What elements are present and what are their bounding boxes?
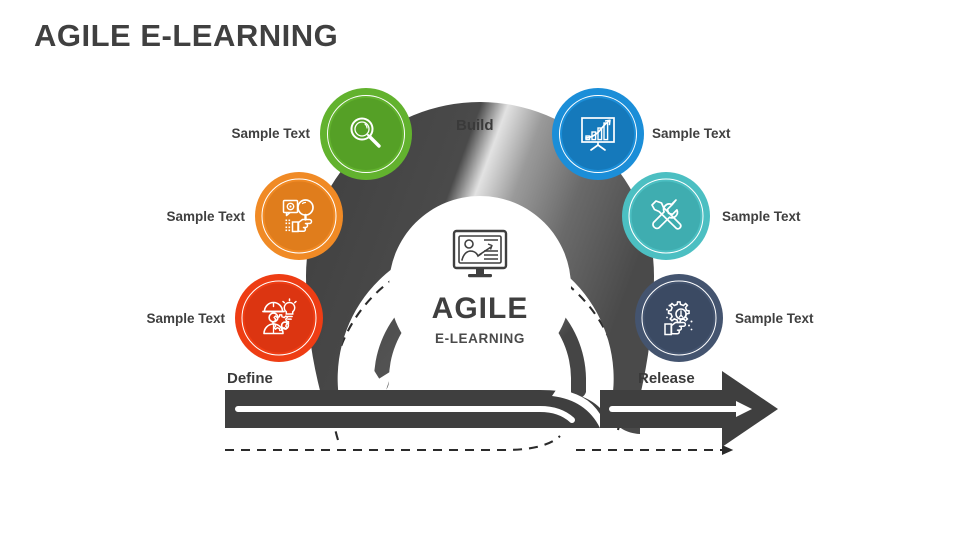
hub-subtitle: E-LEARNING (435, 331, 525, 346)
node-green-label: Sample Text (150, 126, 310, 141)
node-teal-label: Sample Text (722, 209, 892, 224)
center-hub: AGILE E-LEARNING (389, 196, 571, 378)
node-red-label: Sample Text (65, 311, 225, 326)
engineer-idea-gear-icon (245, 284, 314, 353)
node-teal[interactable] (622, 172, 710, 260)
presentation-monitor-icon (451, 229, 509, 286)
dashed-baseline-left (225, 436, 560, 450)
hand-gear-settings-icon (645, 284, 714, 353)
hub-title: AGILE (432, 294, 529, 324)
node-orange-label: Sample Text (85, 209, 245, 224)
node-orange[interactable] (255, 172, 343, 260)
process-arrow (225, 371, 778, 447)
wrench-screwdriver-icon (632, 182, 701, 251)
stage-label-release: Release (638, 370, 695, 387)
node-navy[interactable] (635, 274, 723, 362)
node-red[interactable] (235, 274, 323, 362)
stage-label-build: Build (456, 117, 494, 134)
hand-magnifier-research-icon (265, 182, 334, 251)
stage-label-define: Define (227, 370, 273, 387)
growth-chart-board-icon (562, 98, 634, 170)
node-blue-label: Sample Text (652, 126, 822, 141)
node-blue[interactable] (552, 88, 644, 180)
slide-canvas: AGILE E-LEARNING (0, 0, 960, 540)
node-navy-label: Sample Text (735, 311, 905, 326)
magnifier-icon (330, 98, 402, 170)
node-green[interactable] (320, 88, 412, 180)
